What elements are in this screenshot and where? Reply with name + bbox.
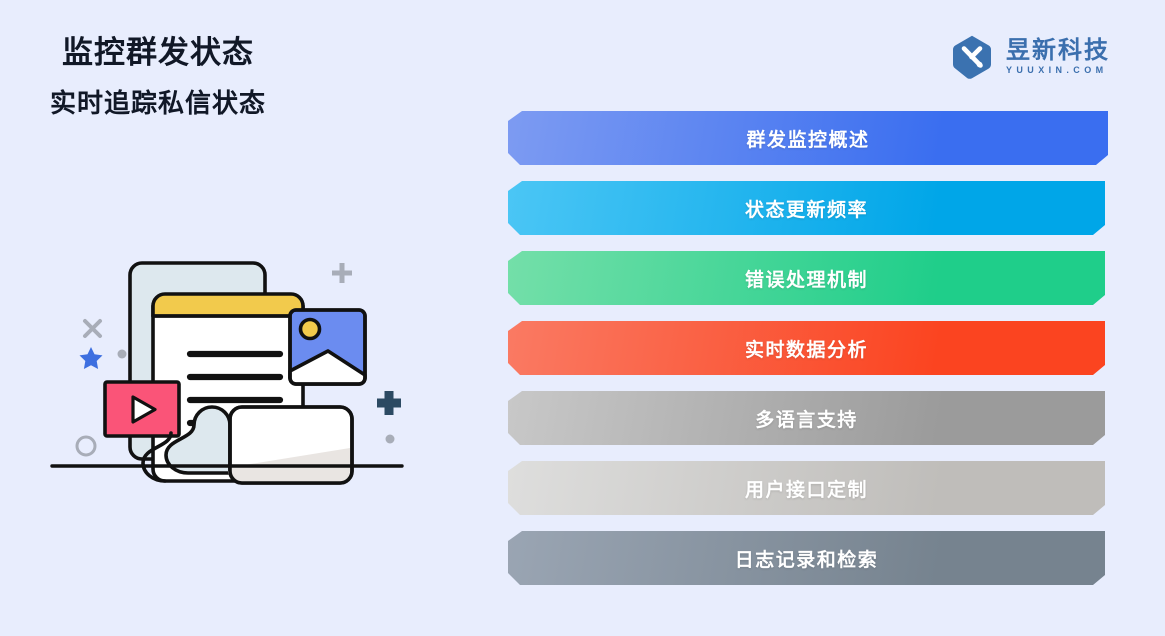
hexagon-x-logo-icon — [949, 34, 995, 80]
brand-wordmark: 昱新科技 YUUXIN.COM — [1006, 39, 1110, 75]
decor-dot — [386, 435, 395, 444]
decor-plus-navy — [377, 391, 401, 415]
document-header-bar — [153, 294, 303, 316]
brand-name: 昱新科技 — [1006, 39, 1110, 63]
brand-logo[interactable]: 昱新科技 YUUXIN.COM — [949, 34, 1110, 80]
banner-label: 错误处理机制 — [745, 265, 868, 292]
header-text-block: 监控群发状态 实时追踪私信状态 — [48, 34, 488, 119]
banner-label: 多语言支持 — [755, 405, 858, 432]
banner-label: 日志记录和检索 — [735, 545, 879, 572]
curled-paper-sheet — [228, 407, 352, 483]
banner-item-3[interactable]: 实时数据分析 — [508, 321, 1105, 375]
banner-item-2[interactable]: 错误处理机制 — [508, 251, 1105, 305]
page-title: 监控群发状态 — [48, 34, 488, 73]
sun-icon — [301, 320, 320, 339]
decor-cross-gray — [332, 263, 352, 283]
brand-domain: YUUXIN.COM — [1006, 66, 1110, 75]
banner-item-5[interactable]: 用户接口定制 — [508, 461, 1105, 515]
decor-dot — [118, 350, 127, 359]
video-play-card — [105, 382, 179, 436]
page-subtitle: 实时追踪私信状态 — [48, 87, 488, 120]
banner-label: 群发监控概述 — [746, 125, 869, 152]
banner-label: 实时数据分析 — [745, 335, 868, 362]
image-card-with-sun — [290, 310, 365, 384]
banner-item-4[interactable]: 多语言支持 — [508, 391, 1105, 445]
banner-label: 状态更新频率 — [745, 195, 868, 222]
feature-banner-list: 群发监控概述 状态更新频率 错误处理机制 实时数据分析 多语言支持 用户接口定制… — [508, 111, 1108, 585]
decor-circle-outline — [77, 437, 95, 455]
banner-label: 用户接口定制 — [745, 475, 868, 502]
banner-item-1[interactable]: 状态更新频率 — [508, 181, 1105, 235]
banner-item-0[interactable]: 群发监控概述 — [508, 111, 1108, 165]
banner-item-6[interactable]: 日志记录和检索 — [508, 531, 1105, 585]
decor-x-gray — [85, 321, 100, 336]
decor-star-blue — [80, 347, 103, 369]
document-media-illustration — [42, 243, 432, 518]
